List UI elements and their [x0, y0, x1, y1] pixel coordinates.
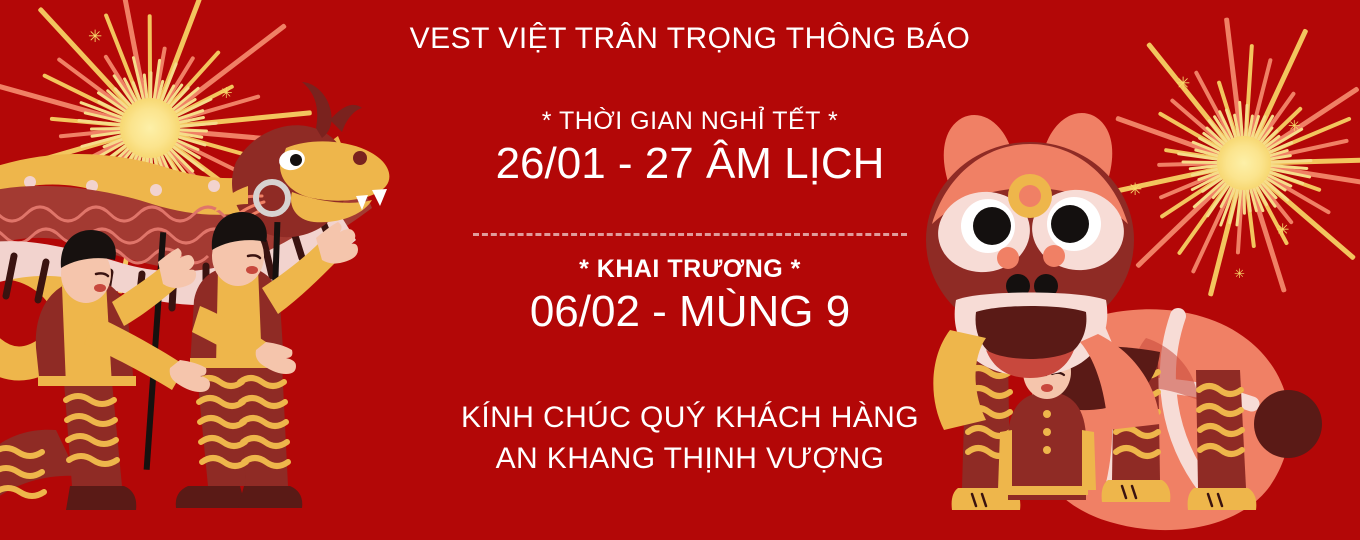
opening-eyebrow: * KHAI TRƯƠNG *	[440, 256, 940, 282]
holiday-block: * THỜI GIAN NGHỈ TẾT * 26/01 - 27 ÂM LỊC…	[440, 108, 940, 191]
page-title: VEST VIỆT TRÂN TRỌNG THÔNG BÁO	[390, 22, 990, 56]
wish-line-2: AN KHANG THỊNH VƯỢNG	[420, 438, 960, 479]
wish-block: KÍNH CHÚC QUÝ KHÁCH HÀNG AN KHANG THỊNH …	[420, 397, 960, 480]
opening-dates: 06/02 - MÙNG 9	[440, 284, 940, 339]
announcement-text-column: VEST VIỆT TRÂN TRỌNG THÔNG BÁO * THỜI GI…	[440, 0, 940, 540]
section-divider	[473, 233, 907, 236]
holiday-eyebrow: * THỜI GIAN NGHỈ TẾT *	[440, 108, 940, 134]
holiday-dates: 26/01 - 27 ÂM LỊCH	[440, 136, 940, 191]
tet-announcement-banner: ✳✳✳✳	[0, 0, 1360, 540]
wish-line-1: KÍNH CHÚC QUÝ KHÁCH HÀNG	[420, 397, 960, 438]
opening-block: * KHAI TRƯƠNG * 06/02 - MÙNG 9	[440, 256, 940, 339]
